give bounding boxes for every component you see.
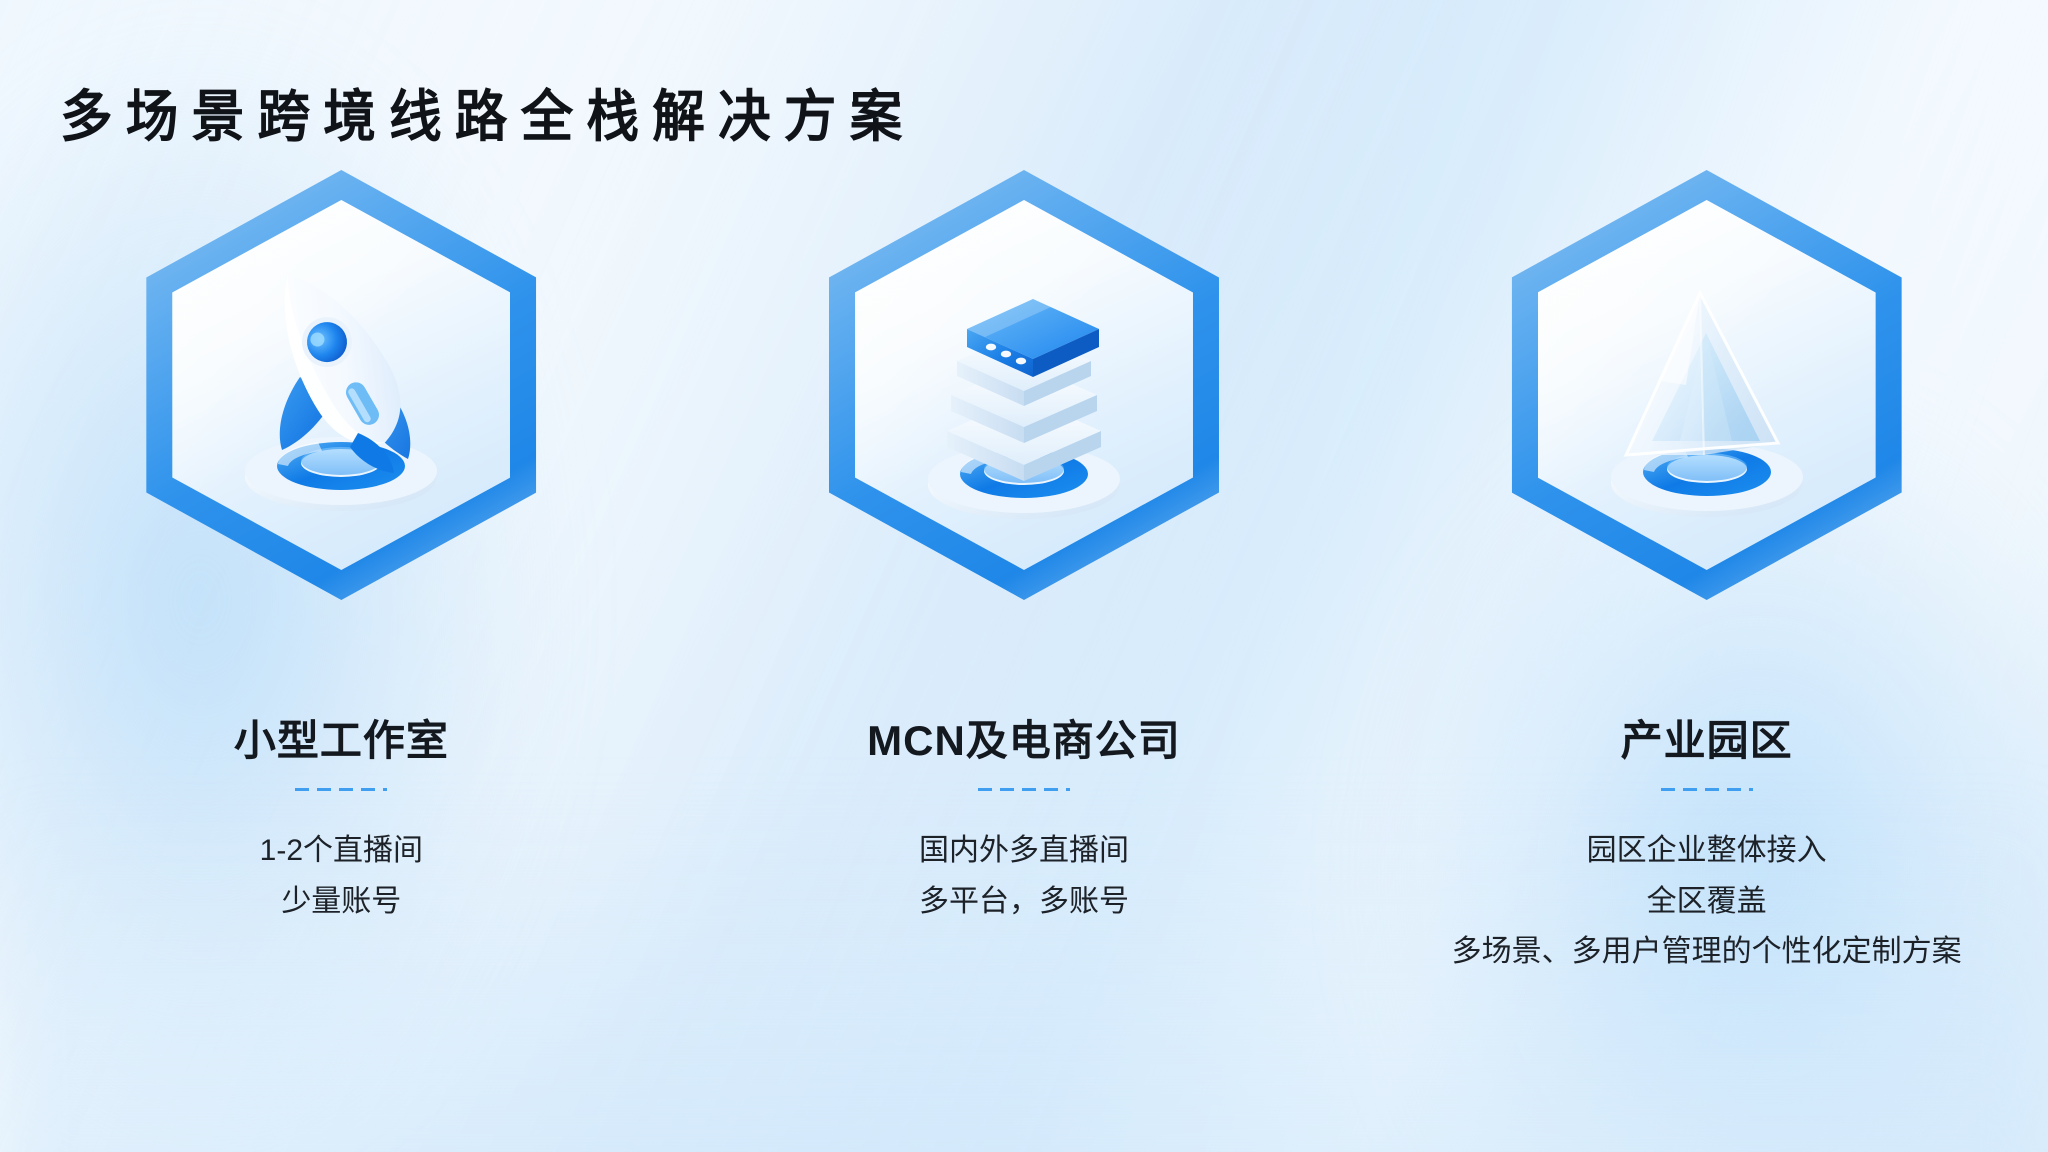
card-description-line: 国内外多直播间 [919, 827, 1129, 876]
card-industrial-park[interactable]: 产业园区 园区企业整体接入 全区覆盖 多场景、多用户管理的个性化定制方案 [1397, 170, 2017, 977]
card-title: 产业园区 [1621, 720, 1793, 762]
pyramid-icon [1512, 170, 1902, 600]
card-mcn-ecommerce[interactable]: MCN及电商公司 国内外多直播间 多平台，多账号 [714, 170, 1334, 926]
page-title: 多场景跨境线路全栈解决方案 [60, 86, 915, 148]
slide-canvas: 多场景跨境线路全栈解决方案 [0, 0, 2048, 1152]
card-description: 园区企业整体接入 全区覆盖 多场景、多用户管理的个性化定制方案 [1452, 825, 1962, 977]
card-divider [295, 788, 387, 791]
card-title: 小型工作室 [234, 720, 449, 762]
card-divider [1661, 788, 1753, 791]
card-title: MCN及电商公司 [867, 720, 1181, 762]
server-stack-icon [829, 170, 1219, 600]
card-divider [978, 788, 1070, 791]
card-description: 1-2个直播间 少量账号 [260, 825, 423, 926]
card-description-line: 多场景、多用户管理的个性化定制方案 [1452, 928, 1962, 977]
card-description-line: 园区企业整体接入 [1452, 827, 1962, 876]
hexagon-medallion [146, 170, 536, 600]
hexagon-medallion [829, 170, 1219, 600]
card-description-line: 全区覆盖 [1452, 878, 1962, 927]
card-description-line: 多平台，多账号 [919, 878, 1129, 927]
hexagon-medallion [1512, 170, 1902, 600]
rocket-icon [146, 170, 536, 600]
card-description: 国内外多直播间 多平台，多账号 [919, 825, 1129, 926]
card-small-studio[interactable]: 小型工作室 1-2个直播间 少量账号 [31, 170, 651, 926]
solution-cards-row: 小型工作室 1-2个直播间 少量账号 [0, 170, 2048, 977]
card-description-line: 1-2个直播间 [260, 827, 423, 876]
card-description-line: 少量账号 [260, 878, 423, 927]
